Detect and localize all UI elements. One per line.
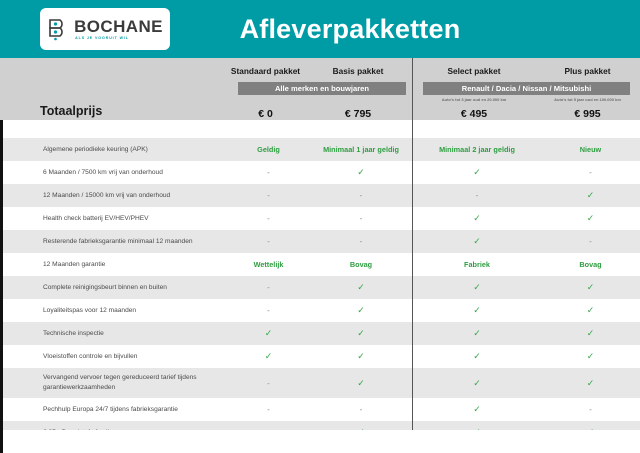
badge-alle-merken: Alle merken en bouwjaren xyxy=(238,82,406,95)
cell-basis: - xyxy=(306,214,416,223)
cell-standaard: Wettelijk xyxy=(231,260,306,269)
cell-plus: ✓ xyxy=(538,378,640,389)
cell-select: ✓ xyxy=(416,305,538,316)
price-standaard: € 0 xyxy=(228,108,303,120)
cell-basis: - xyxy=(306,237,416,246)
row-label: Loyaliteitspas voor 12 maanden xyxy=(3,306,231,316)
cell-plus: - xyxy=(538,405,640,414)
cell-basis: ✓ xyxy=(306,282,416,293)
cell-select: ✓ xyxy=(416,236,538,247)
row-label: Resterende fabrieksgarantie minimaal 12 … xyxy=(3,237,231,247)
cell-standaard: - xyxy=(231,306,306,315)
cell-basis: - xyxy=(306,405,416,414)
cell-select: - xyxy=(416,191,538,200)
row-label: 12 Maanden / 15000 km vrij van onderhoud xyxy=(3,191,231,201)
page-header: BOCHANE ALS JE VOORUIT WIL Afleverpakket… xyxy=(0,0,640,58)
cell-plus: ✓ xyxy=(538,328,640,339)
cell-plus: - xyxy=(538,168,640,177)
cell-select: ✓ xyxy=(416,328,538,339)
price-basis: € 795 xyxy=(303,108,413,120)
cell-standaard: - xyxy=(231,405,306,414)
table-row: Vloeistoffen controle en bijvullen✓✓✓✓ xyxy=(3,345,640,368)
cell-plus: ✓ xyxy=(538,213,640,224)
table-bottom-frame xyxy=(0,430,640,453)
cell-select: ✓ xyxy=(416,167,538,178)
cell-plus: Bovag xyxy=(538,260,640,269)
cell-select: ✓ xyxy=(416,282,538,293)
cell-standaard: ✓ xyxy=(231,328,306,339)
cell-standaard: - xyxy=(231,214,306,223)
subnote-select: Auto's tot 3 jaar oud en 20.000 km xyxy=(413,97,535,102)
price-select: € 495 xyxy=(413,108,535,120)
row-label: Vloeistoffen controle en bijvullen xyxy=(3,352,231,362)
column-header-plus: Plus pakket xyxy=(535,66,640,76)
totaalprijs-label: Totaalprijs xyxy=(40,104,102,118)
cell-basis: ✓ xyxy=(306,378,416,389)
cell-basis: ✓ xyxy=(306,305,416,316)
cell-select: ✓ xyxy=(416,378,538,389)
table-row: 6 Maanden / 7500 km vrij van onderhoud-✓… xyxy=(3,161,640,184)
row-label: Vervangend vervoer tegen gereduceerd tar… xyxy=(3,373,231,392)
cell-standaard: Geldig xyxy=(231,145,306,154)
cell-select: Fabriek xyxy=(416,260,538,269)
cell-standaard: - xyxy=(231,283,306,292)
badge-merken-select-plus: Renault / Dacia / Nissan / Mitsubishi xyxy=(423,82,630,95)
cell-standaard: - xyxy=(231,379,306,388)
column-group-divider xyxy=(412,58,413,443)
table-row: Health check batterij EV/HEV/PHEV--✓✓ xyxy=(3,207,640,230)
table-row: Loyaliteitspas voor 12 maanden-✓✓✓ xyxy=(3,299,640,322)
cell-basis: ✓ xyxy=(306,351,416,362)
cell-basis: Minimaal 1 jaar geldig xyxy=(306,145,416,154)
table-row: Complete reinigingsbeurt binnen en buite… xyxy=(3,276,640,299)
row-label: Complete reinigingsbeurt binnen en buite… xyxy=(3,283,231,293)
subnote-plus: Auto's tot 5 jaar oud en 100.000 km xyxy=(535,97,640,102)
cell-plus: ✓ xyxy=(538,190,640,201)
row-label: 12 Maanden garantie xyxy=(3,260,231,270)
row-label: Technische inspectie xyxy=(3,329,231,339)
column-header-basis: Basis pakket xyxy=(303,66,413,76)
table-row: Resterende fabrieksgarantie minimaal 12 … xyxy=(3,230,640,253)
cell-basis: ✓ xyxy=(306,328,416,339)
cell-standaard: ✓ xyxy=(231,351,306,362)
table-row: 12 Maanden garantieWettelijkBovagFabriek… xyxy=(3,253,640,276)
cell-select: ✓ xyxy=(416,213,538,224)
cell-select: ✓ xyxy=(416,351,538,362)
table-row: Algemene periodieke keuring (APK)GeldigM… xyxy=(3,138,640,161)
cell-plus: ✓ xyxy=(538,282,640,293)
features-table: Algemene periodieke keuring (APK)GeldigM… xyxy=(0,120,640,444)
cell-plus: ✓ xyxy=(538,351,640,362)
table-spacer xyxy=(3,120,640,138)
table-row: 12 Maanden / 15000 km vrij van onderhoud… xyxy=(3,184,640,207)
column-header-select: Select pakket xyxy=(413,66,535,76)
cell-plus: Nieuw xyxy=(538,145,640,154)
row-label: 6 Maanden / 7500 km vrij van onderhoud xyxy=(3,168,231,178)
column-header-standaard: Standaard pakket xyxy=(228,66,303,76)
price-plus: € 995 xyxy=(535,108,640,120)
table-row: Vervangend vervoer tegen gereduceerd tar… xyxy=(3,368,640,398)
cell-standaard: - xyxy=(231,191,306,200)
cell-basis: Bovag xyxy=(306,260,416,269)
cell-standaard: - xyxy=(231,168,306,177)
row-label: Health check batterij EV/HEV/PHEV xyxy=(3,214,231,224)
table-row: Technische inspectie✓✓✓✓ xyxy=(3,322,640,345)
cell-standaard: - xyxy=(231,237,306,246)
cell-basis: ✓ xyxy=(306,167,416,178)
cell-basis: - xyxy=(306,191,416,200)
page-title: Afleverpakketten xyxy=(0,0,640,58)
row-label: Pechhulp Europa 24/7 tijdens fabrieksgar… xyxy=(3,405,231,415)
row-label: Algemene periodieke keuring (APK) xyxy=(3,145,231,155)
cell-plus: ✓ xyxy=(538,305,640,316)
table-row: Pechhulp Europa 24/7 tijdens fabrieksgar… xyxy=(3,398,640,421)
cell-select: Minimaal 2 jaar geldig xyxy=(416,145,538,154)
cell-plus: - xyxy=(538,237,640,246)
cell-select: ✓ xyxy=(416,404,538,415)
afleverpakketten-sheet: BOCHANE ALS JE VOORUIT WIL Afleverpakket… xyxy=(0,0,640,453)
